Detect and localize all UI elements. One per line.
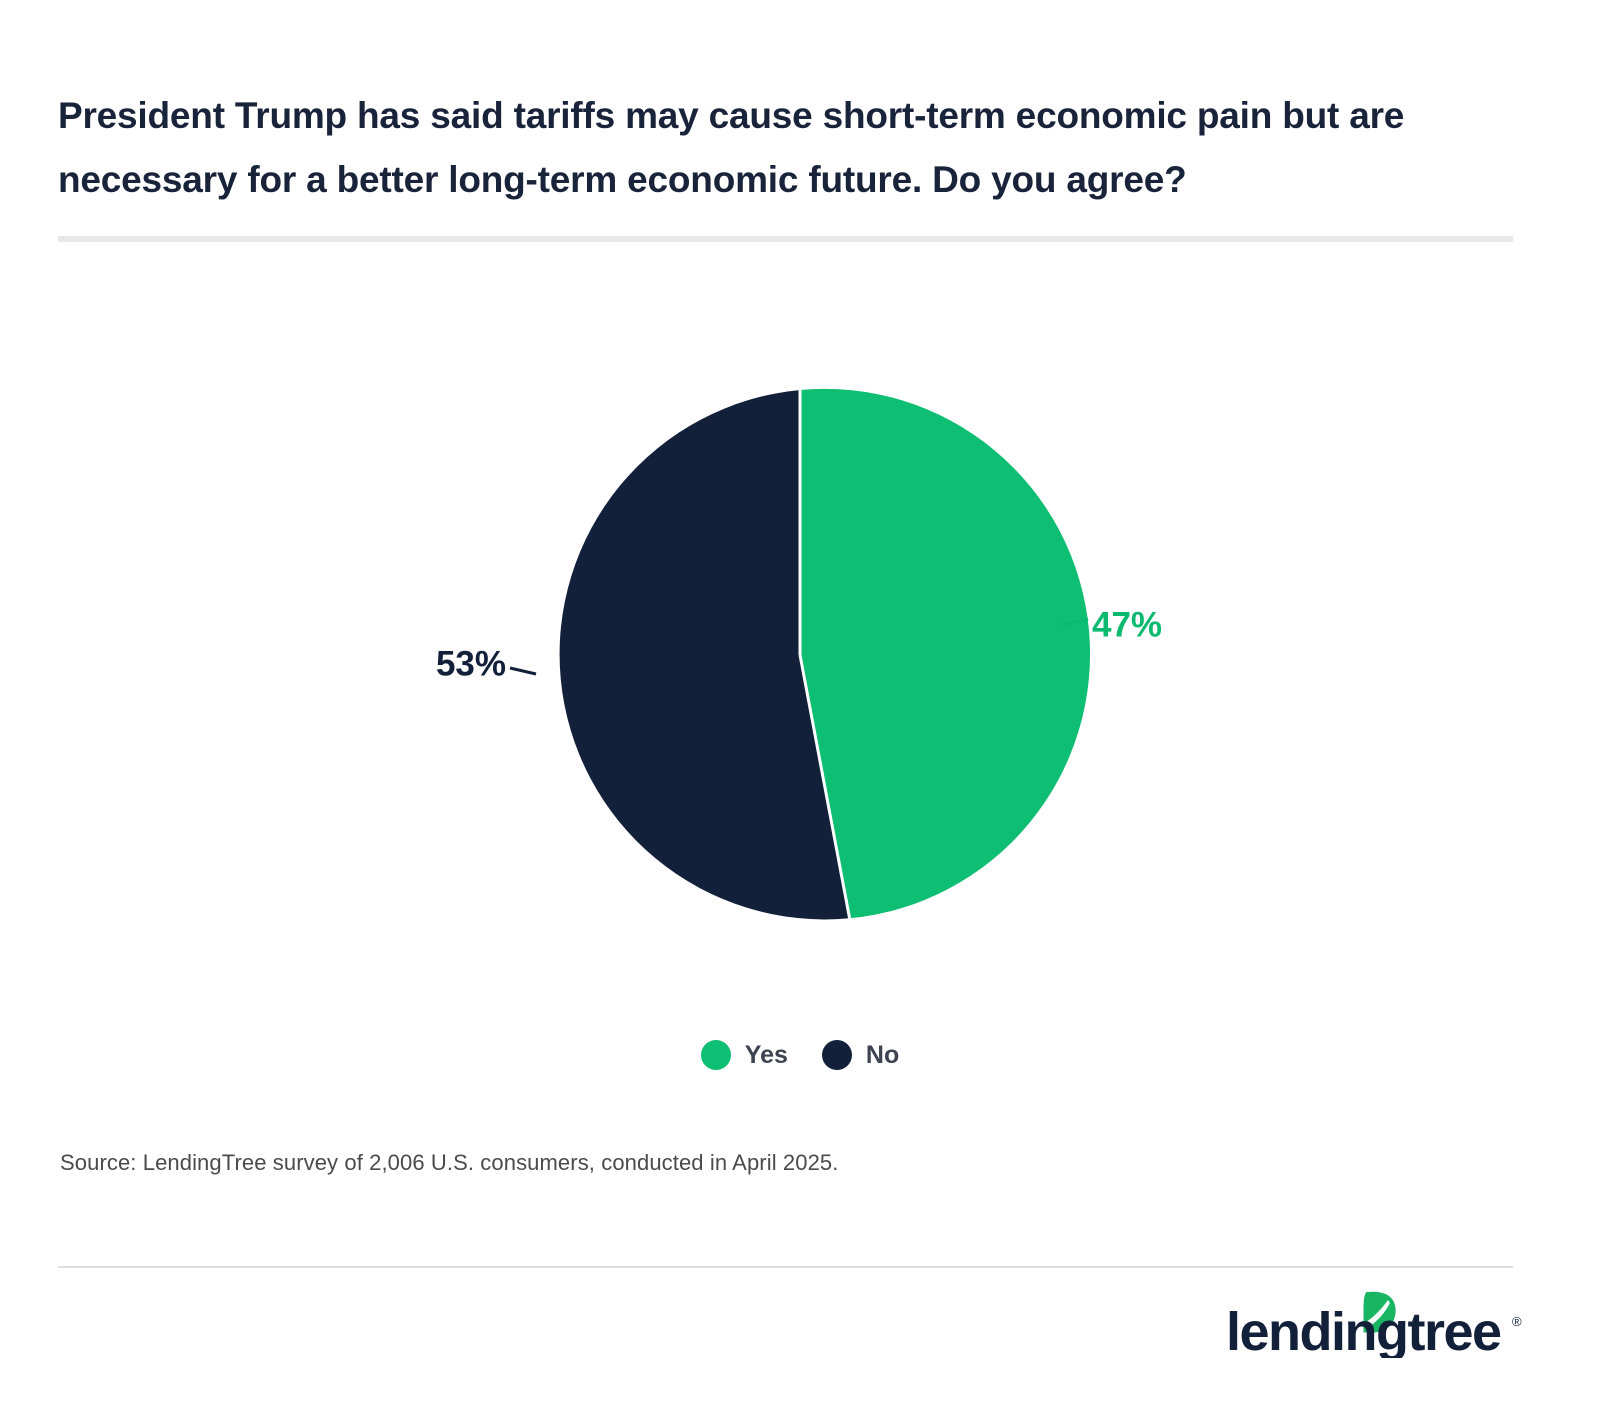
legend-swatch-no-icon — [822, 1040, 852, 1070]
lendingtree-logo[interactable]: lendingtree ® — [1226, 1292, 1526, 1358]
pie-label-no: 53% — [436, 644, 506, 683]
legend-label-no: No — [866, 1043, 899, 1068]
footer-divider — [58, 1266, 1513, 1268]
pie-chart-svg: 47% 53% — [370, 330, 1230, 950]
page-title: President Trump has said tariffs may cau… — [58, 84, 1478, 211]
chart-canvas: President Trump has said tariffs may cau… — [0, 0, 1600, 1410]
pie-slice-yes — [800, 389, 1090, 918]
title-divider — [58, 236, 1513, 242]
lendingtree-logo-svg: lendingtree ® — [1226, 1288, 1526, 1358]
source-note: Source: LendingTree survey of 2,006 U.S.… — [60, 1150, 838, 1176]
leader-line-no — [510, 668, 536, 674]
pie-label-yes: 47% — [1092, 605, 1162, 644]
logo-wordmark: lendingtree — [1226, 1302, 1501, 1358]
legend-swatch-yes-icon — [701, 1040, 731, 1070]
legend-item-no[interactable]: No — [822, 1040, 899, 1070]
legend-label-yes: Yes — [745, 1043, 788, 1068]
chart-legend: Yes No — [0, 1040, 1600, 1070]
legend-item-yes[interactable]: Yes — [701, 1040, 788, 1070]
pie-chart: 47% 53% — [0, 330, 1600, 990]
title-block: President Trump has said tariffs may cau… — [58, 84, 1478, 211]
logo-registered-mark: ® — [1512, 1314, 1522, 1329]
